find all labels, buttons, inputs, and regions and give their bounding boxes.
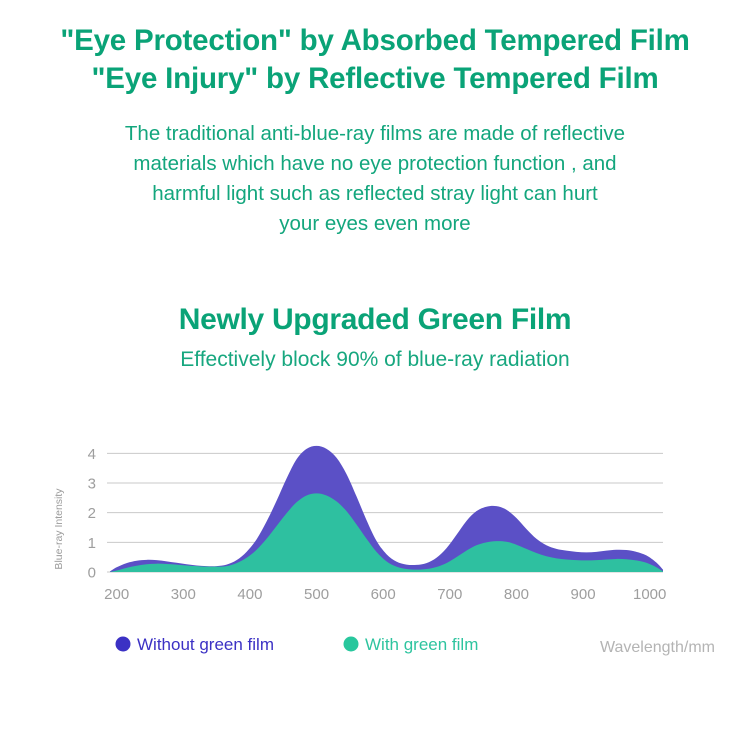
x-tick-label: 700 [437, 586, 462, 603]
chart-x-tick-labels: 2003004005006007008009001000 [104, 586, 666, 603]
promo-page: "Eye Protection" by Absorbed Tempered Fi… [0, 0, 750, 750]
legend-label-with-green-film: With green film [365, 635, 478, 654]
chart-legend: Without green film With green film [116, 635, 479, 654]
x-tick-label: 600 [371, 586, 396, 603]
series-area [110, 446, 663, 572]
x-tick-label: 500 [304, 586, 329, 603]
intro-paragraph: The traditional anti-blue-ray films are … [65, 119, 685, 239]
hero-heading: "Eye Protection" by Absorbed Tempered Fi… [0, 0, 750, 98]
y-tick-label: 0 [88, 565, 96, 582]
section-heading: Newly Upgraded Green Film Effectively bl… [0, 301, 750, 374]
legend-dot-without-green-film [116, 637, 131, 652]
intro-line-2: materials which have no eye protection f… [65, 149, 685, 179]
legend-dot-with-green-film [344, 637, 359, 652]
x-tick-label: 900 [571, 586, 596, 603]
y-tick-label: 1 [88, 535, 96, 552]
x-tick-label: 800 [504, 586, 529, 603]
blue-ray-intensity-chart: 01234 2003004005006007008009001000 Blue-… [0, 424, 750, 674]
intro-line-1: The traditional anti-blue-ray films are … [65, 119, 685, 149]
section-title: Newly Upgraded Green Film [0, 301, 750, 339]
chart-x-axis-label: Wavelength/mm [600, 639, 715, 656]
x-tick-label: 1000 [633, 586, 666, 603]
hero-line-2: "Eye Injury" by Reflective Tempered Film [0, 60, 750, 98]
section-subtitle: Effectively block 90% of blue-ray radiat… [0, 346, 750, 374]
chart-y-axis-label: Blue-ray Intensity [53, 488, 65, 570]
y-tick-label: 3 [88, 475, 96, 492]
chart-svg: 01234 2003004005006007008009001000 Blue-… [0, 424, 750, 674]
x-tick-label: 400 [237, 586, 262, 603]
y-tick-label: 2 [88, 505, 96, 522]
x-tick-label: 300 [171, 586, 196, 603]
intro-line-4: your eyes even more [65, 209, 685, 239]
chart-areas [110, 446, 663, 572]
x-tick-label: 200 [104, 586, 129, 603]
chart-y-tick-labels: 01234 [88, 446, 96, 582]
y-tick-label: 4 [88, 446, 96, 463]
intro-line-3: harmful light such as reflected stray li… [65, 179, 685, 209]
legend-label-without-green-film: Without green film [137, 635, 274, 654]
hero-line-1: "Eye Protection" by Absorbed Tempered Fi… [0, 22, 750, 60]
